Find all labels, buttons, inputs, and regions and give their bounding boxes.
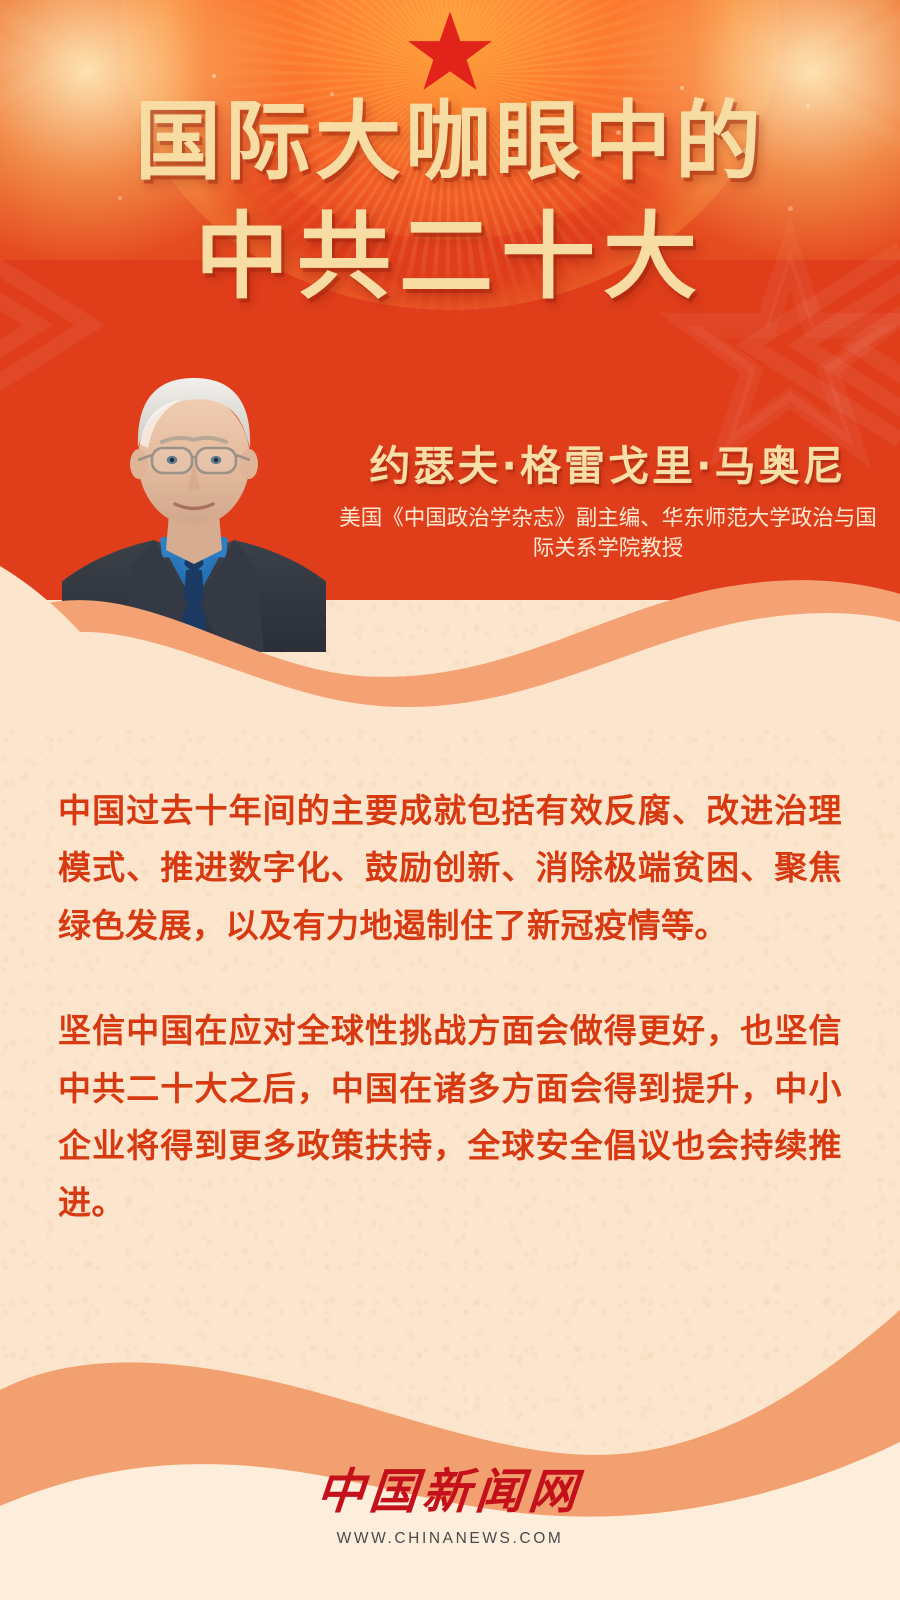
chinanews-logo: 中国新闻网 (314, 1452, 585, 1522)
chinanews-url: WWW.CHINANEWS.COM (0, 1530, 900, 1548)
poster-root: 国际大咖眼中的 中共二十大 (0, 0, 900, 1600)
speaker-identity: 约瑟夫·格雷戈里·马奥尼 美国《中国政治学杂志》副主编、华东师范大学政治与国际关… (330, 432, 886, 563)
speaker-name: 约瑟夫·格雷戈里·马奥尼 (330, 432, 886, 492)
title-line-1: 国际大咖眼中的 (0, 92, 900, 193)
paragraph-2: 坚信中国在应对全球性挑战方面会做得更好，也坚信中共二十大之后，中国在诸多方面会得… (58, 1002, 842, 1232)
five-point-star-icon (406, 8, 494, 96)
paragraph-1: 中国过去十年间的主要成就包括有效反腐、改进治理模式、推进数字化、鼓励创新、消除极… (58, 782, 842, 954)
avatar (62, 352, 326, 652)
title-line-2: 中共二十大 (0, 203, 900, 314)
article-body: 中国过去十年间的主要成就包括有效反腐、改进治理模式、推进数字化、鼓励创新、消除极… (0, 600, 900, 1232)
site-footer: 中国新闻网 WWW.CHINANEWS.COM (0, 1452, 900, 1548)
speaker-portrait (62, 352, 326, 652)
speaker-role: 美国《中国政治学杂志》副主编、华东师范大学政治与国际关系学院教授 (330, 504, 886, 563)
poster-title: 国际大咖眼中的 中共二十大 (0, 92, 900, 314)
